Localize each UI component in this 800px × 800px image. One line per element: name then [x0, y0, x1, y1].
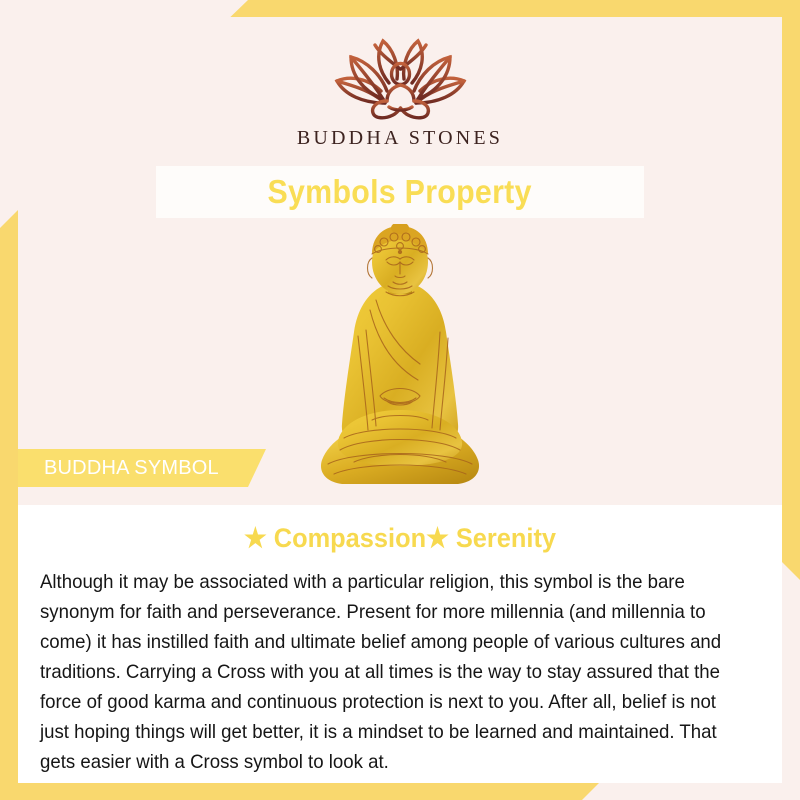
description-panel: ★ Compassion★ Serenity Although it may b… — [18, 505, 782, 783]
title-banner: Symbols Property — [156, 166, 644, 218]
content-body: Although it may be associated with a par… — [40, 567, 728, 777]
seated-buddha-statue-icon — [314, 224, 486, 492]
buddha-symbol-tag-label: BUDDHA SYMBOL — [18, 457, 219, 480]
brand-name: BUDDHA STONES — [297, 127, 503, 150]
brand-header: BUDDHA STONES — [18, 17, 782, 150]
page-title: Symbols Property — [268, 173, 532, 211]
content-subtitle: ★ Compassion★ Serenity — [62, 523, 739, 554]
buddha-symbol-tag: BUDDHA SYMBOL — [18, 449, 266, 487]
poster-root: BUDDHA STONES Symbols Property — [0, 0, 800, 800]
content-card: BUDDHA STONES Symbols Property — [18, 17, 782, 783]
lotus-meditation-icon — [313, 33, 488, 121]
